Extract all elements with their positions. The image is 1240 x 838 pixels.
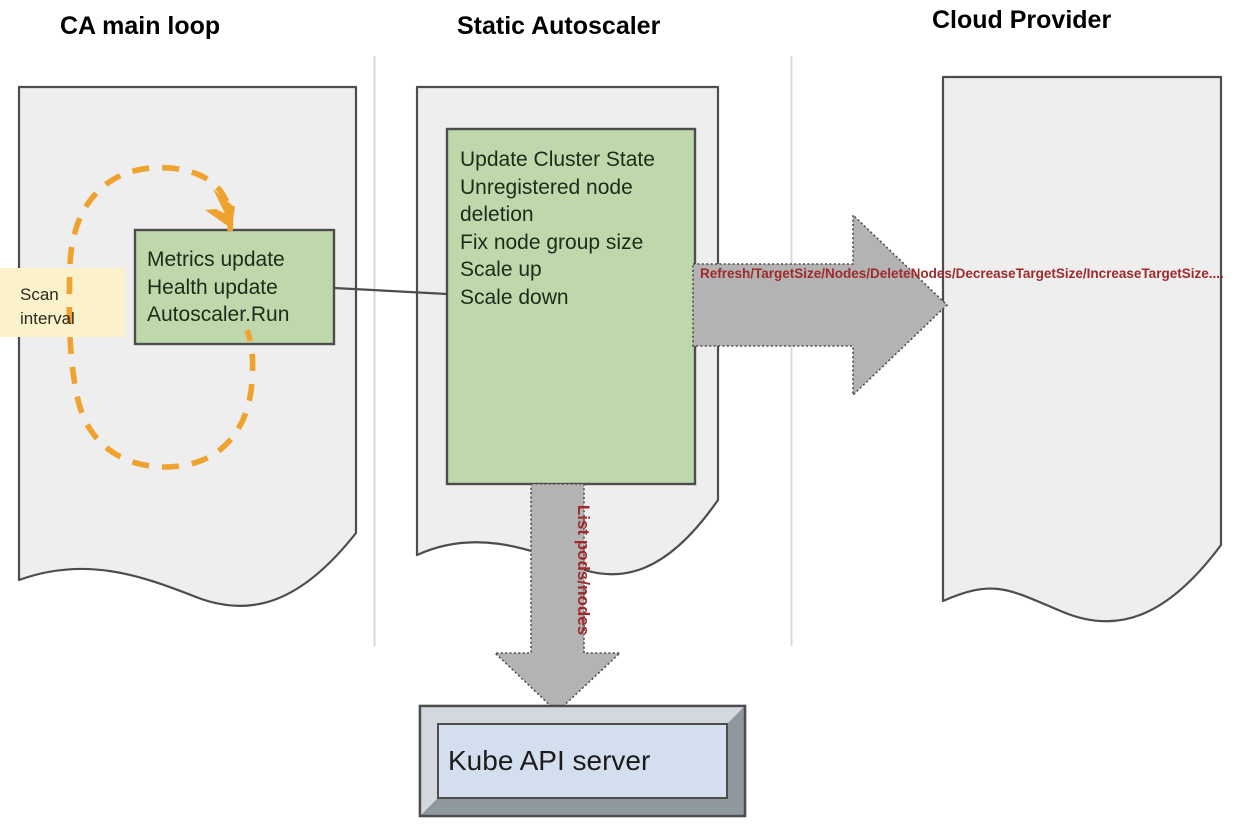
scan-interval-note-label: Scan interval: [20, 283, 120, 331]
column-title-ca-main-loop: CA main loop: [60, 12, 220, 41]
kube-api-server-label: Kube API server: [448, 745, 718, 777]
document-shape-cloud-provider: [943, 77, 1221, 621]
cloud-provider-api-arrow: [693, 215, 947, 395]
static-autoscaler-process-label: Update Cluster State Unregistered node d…: [460, 146, 695, 311]
ca-main-loop-process-label: Metrics update Health update Autoscaler.…: [147, 246, 337, 329]
column-title-cloud-provider: Cloud Provider: [932, 6, 1111, 35]
diagram-graphics: [0, 0, 1240, 838]
column-title-static-autoscaler: Static Autoscaler: [457, 12, 660, 41]
cloud-provider-api-arrow-label: Refresh/TargetSize/Nodes/DeleteNodes/Dec…: [700, 266, 896, 283]
kube-api-list-arrow-label: List pods/nodes: [573, 485, 593, 655]
diagram-canvas: CA main loop Static Autoscaler Cloud Pro…: [0, 0, 1240, 838]
